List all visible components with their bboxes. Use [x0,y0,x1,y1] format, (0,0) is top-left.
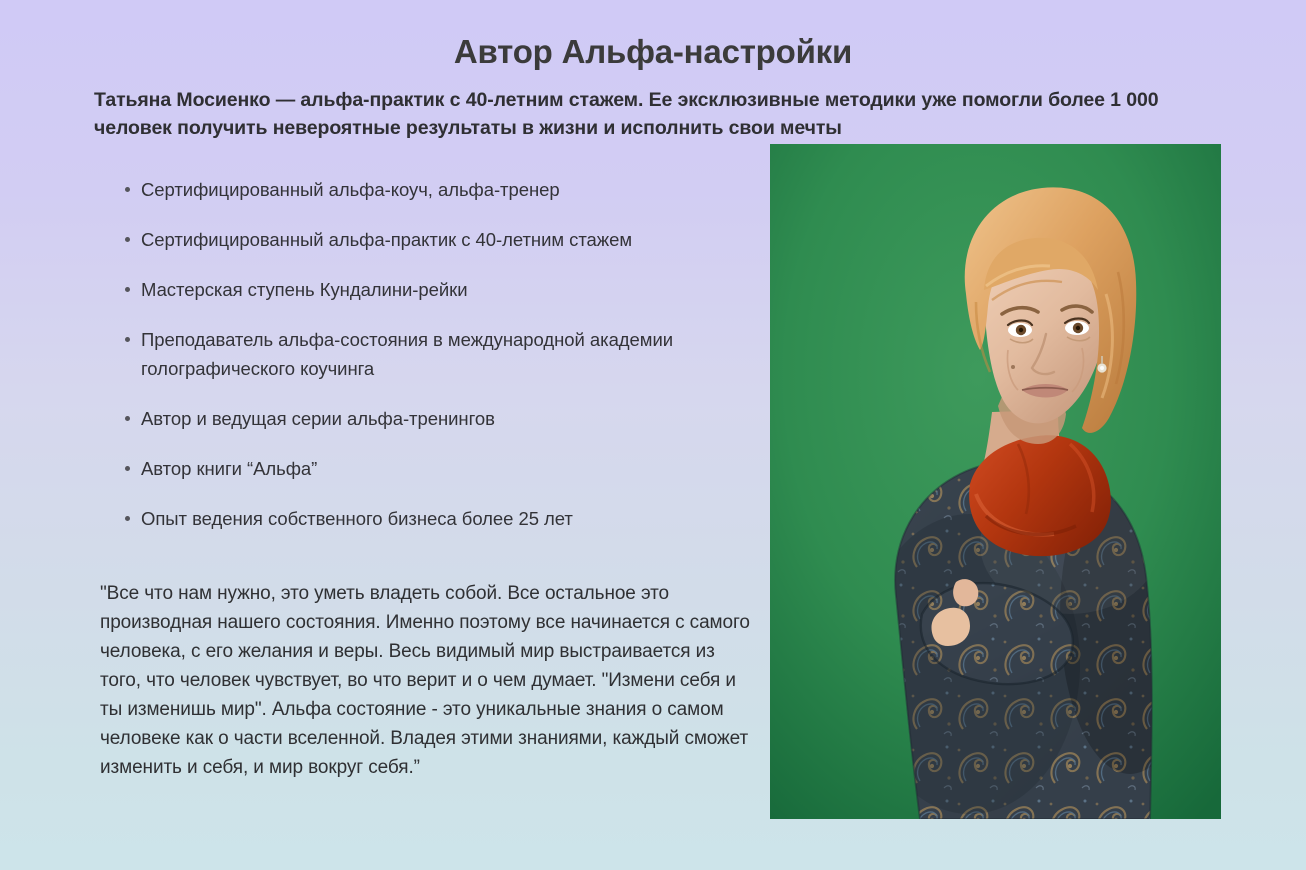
bullet-icon [125,237,130,242]
author-profile-page: Автор Альфа-настройки Татьяна Мосиенко —… [0,0,1306,870]
bullet-icon [125,287,130,292]
list-item-label: Опыт ведения собственного бизнеса более … [141,508,573,529]
bullet-icon [125,337,130,342]
author-portrait-illustration [770,144,1221,819]
list-item: Сертифицированный альфа-коуч, альфа-трен… [100,176,760,204]
list-item: Автор книги “Альфа” [100,455,760,483]
bullet-icon [125,466,130,471]
author-photo [770,144,1221,819]
list-item-label: Автор книги “Альфа” [141,458,317,479]
bullet-icon [125,187,130,192]
list-item: Автор и ведущая серии альфа-тренингов [100,405,760,433]
list-item: Опыт ведения собственного бизнеса более … [100,505,760,533]
bullet-icon [125,416,130,421]
page-title: Автор Альфа-настройки [0,0,1306,72]
list-item: Сертифицированный альфа-практик с 40-лет… [100,226,760,254]
author-quote: "Все что нам нужно, это уметь владеть со… [100,579,750,782]
credentials-list: Сертифицированный альфа-коуч, альфа-трен… [100,176,760,533]
page-subtitle: Татьяна Мосиенко — альфа-практик с 40-ле… [0,86,1306,143]
list-item-label: Мастерская ступень Кундалини-рейки [141,279,468,300]
list-item-label: Сертифицированный альфа-коуч, альфа-трен… [141,179,560,200]
list-item: Преподаватель альфа-состояния в междунар… [100,326,760,382]
content-columns: Сертифицированный альфа-коуч, альфа-трен… [0,164,1306,864]
list-item-label: Сертифицированный альфа-практик с 40-лет… [141,229,632,250]
list-item: Мастерская ступень Кундалини-рейки [100,276,760,304]
list-item-label: Автор и ведущая серии альфа-тренингов [141,408,495,429]
bullet-icon [125,516,130,521]
list-item-label: Преподаватель альфа-состояния в междунар… [141,329,673,378]
credentials-column: Сертифицированный альфа-коуч, альфа-трен… [0,164,760,782]
